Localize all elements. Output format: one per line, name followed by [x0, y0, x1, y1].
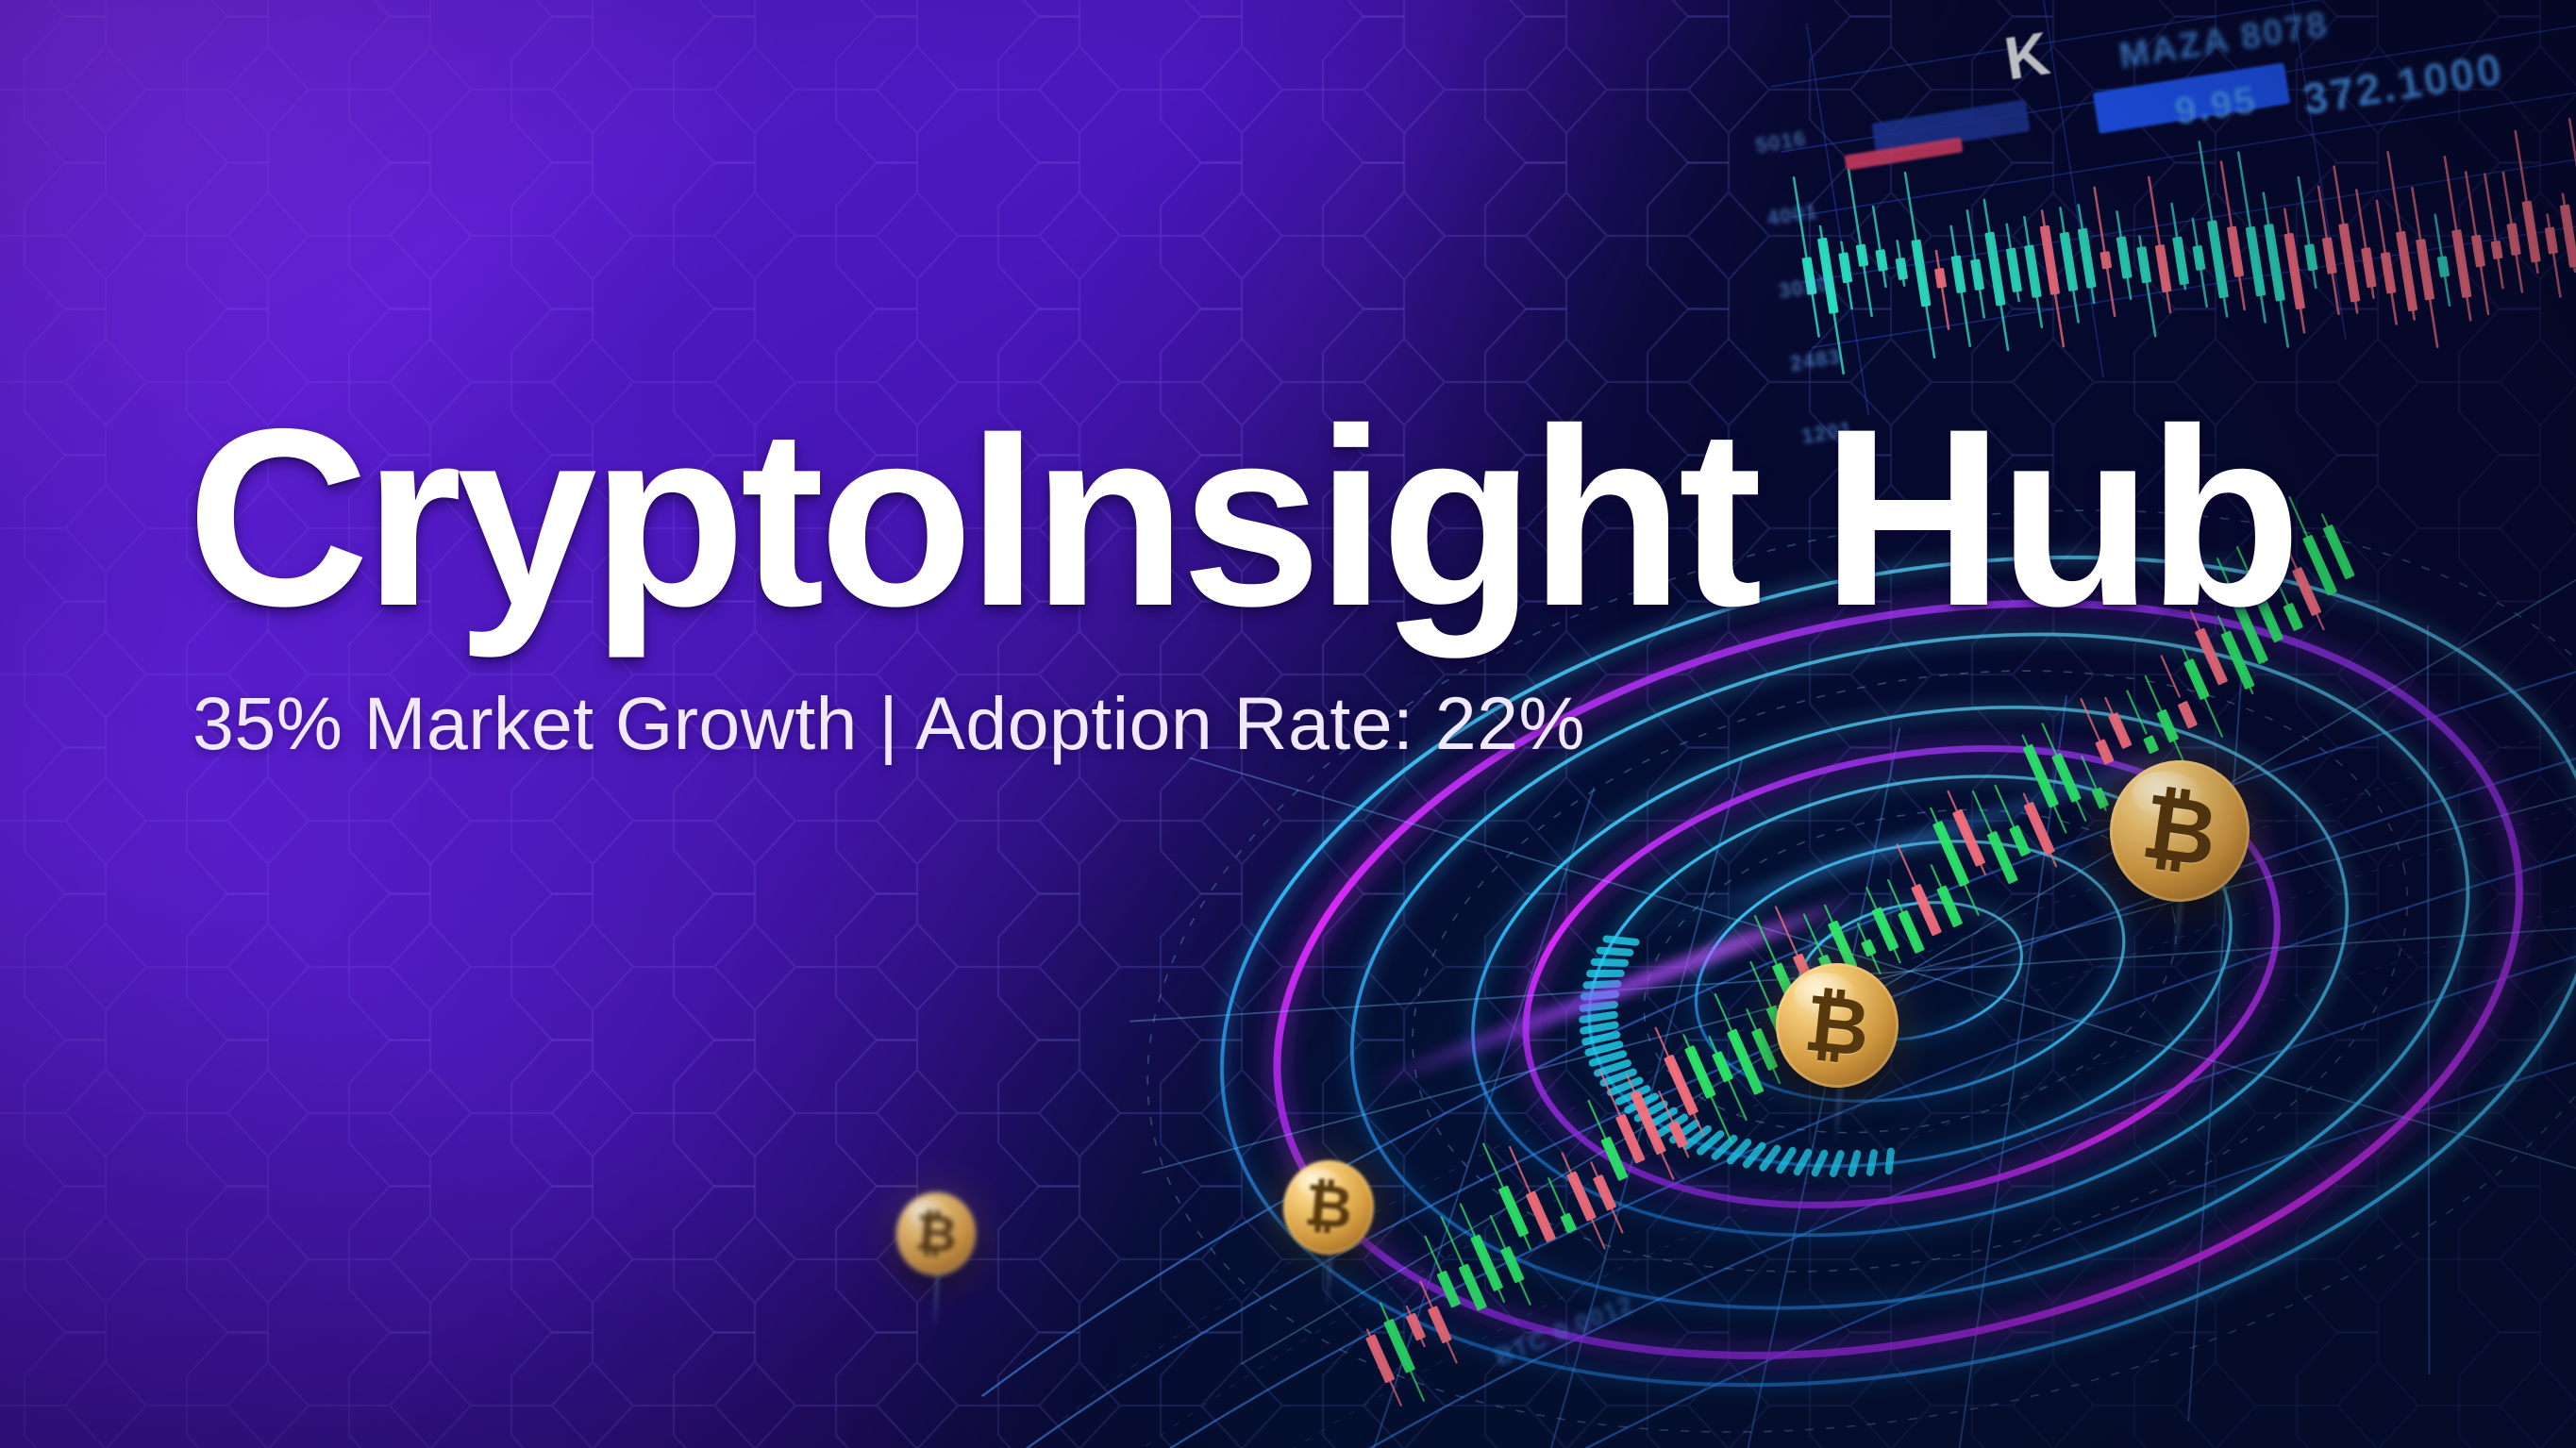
- bitcoin-glyph: ₿: [2137, 781, 2223, 881]
- headline-block: CryptoInsight Hub 35% Market Growth | Ad…: [187, 389, 2296, 767]
- bitcoin-glyph: ₿: [1302, 1176, 1355, 1239]
- bitcoin-glyph: ₿: [913, 1207, 959, 1261]
- page-subtitle: 35% Market Growth | Adoption Rate: 22%: [192, 680, 2296, 767]
- bitcoin-glyph: ₿: [1801, 983, 1874, 1069]
- crypto-banner: K MAZA 8078 9.95 372.1000 BTC 0.0012 501…: [0, 0, 2576, 1448]
- page-title: CryptoInsight Hub: [187, 389, 2296, 646]
